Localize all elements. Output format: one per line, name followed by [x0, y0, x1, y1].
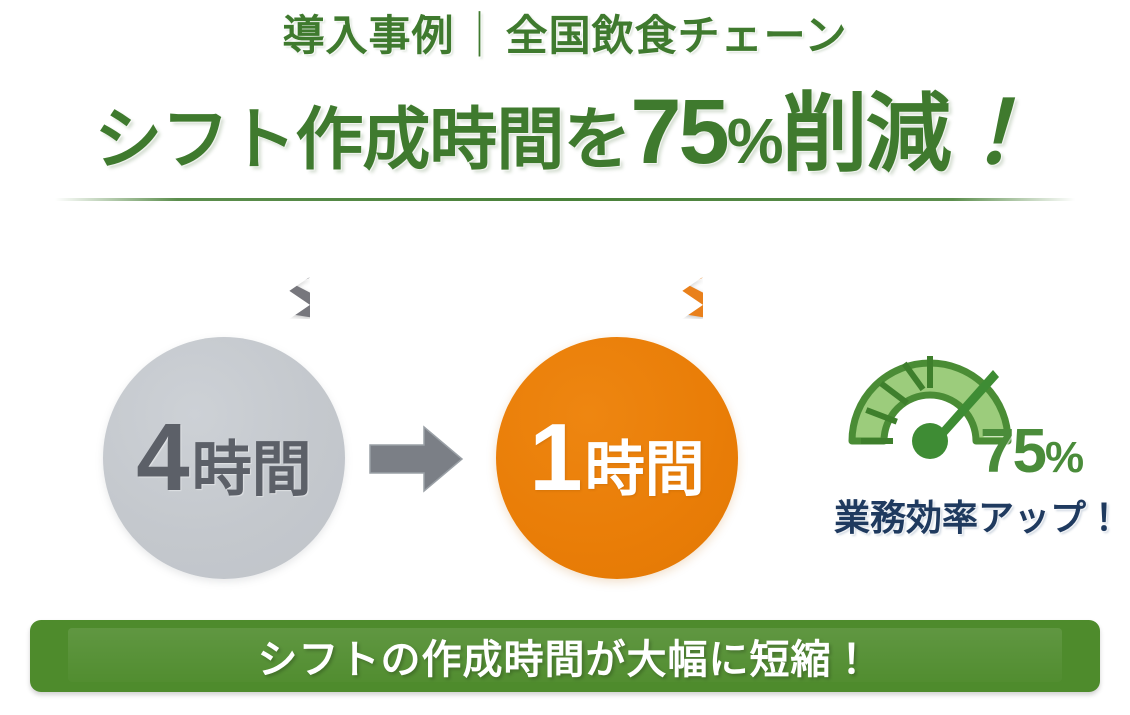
headline-lead-text: シフト作成時間を: [94, 102, 630, 178]
before-ribbon-label: 導入前: [183, 278, 264, 316]
gauge-value: 75%: [980, 421, 1084, 483]
ribbon-shape-icon: [531, 275, 703, 319]
before-circle: 4時間: [103, 337, 345, 579]
after-ribbon-banner: 導入後: [531, 275, 703, 319]
before-value: 4: [136, 410, 187, 506]
header-divider: [55, 198, 1075, 201]
gauge-caption: 業務効率アップ！: [828, 489, 1128, 541]
eyebrow-left-text: 導入事例: [283, 12, 455, 59]
before-ribbon-banner: 導入前: [138, 275, 310, 319]
before-stage: 導入前 4時間: [99, 275, 349, 585]
eyebrow-separator: ｜: [455, 12, 506, 60]
after-value: 1: [529, 410, 580, 506]
after-ribbon-label: 導入後: [576, 278, 657, 316]
after-circle-text: 1時間: [529, 410, 704, 506]
after-unit: 時間: [585, 440, 705, 500]
transition-arrow-icon: [368, 423, 464, 495]
comparison-section: 導入前 4時間 導入後 1時間: [0, 275, 1130, 595]
ribbon-shape-icon: [138, 275, 310, 319]
headline-kanji: 削減: [782, 86, 950, 182]
gauge-value-number: 75: [980, 417, 1045, 486]
infographic-root: 導入事例｜全国飲食チェーン シフト作成時間を75%削減！ 導入前 4時間: [0, 0, 1130, 715]
summary-banner: シフトの作成時間が大幅に短縮！: [30, 620, 1100, 692]
efficiency-gauge-block: 75% 業務効率アップ！: [828, 323, 1128, 585]
page-title: シフト作成時間を75%削減！: [0, 86, 1130, 178]
before-circle-text: 4時間: [136, 410, 311, 506]
gauge-value-percent: %: [1045, 433, 1084, 482]
headline-number: 75: [630, 81, 726, 183]
headline-exclamation: ！: [950, 86, 1036, 182]
after-stage: 導入後 1時間: [492, 275, 742, 585]
before-unit: 時間: [192, 440, 312, 500]
after-circle: 1時間: [496, 337, 738, 579]
eyebrow-heading: 導入事例｜全国飲食チェーン: [0, 14, 1130, 58]
summary-banner-text: シフトの作成時間が大幅に短縮！: [258, 627, 873, 685]
headline-percent-sign: %: [727, 105, 782, 177]
eyebrow-right-text: 全国飲食チェーン: [506, 12, 848, 59]
